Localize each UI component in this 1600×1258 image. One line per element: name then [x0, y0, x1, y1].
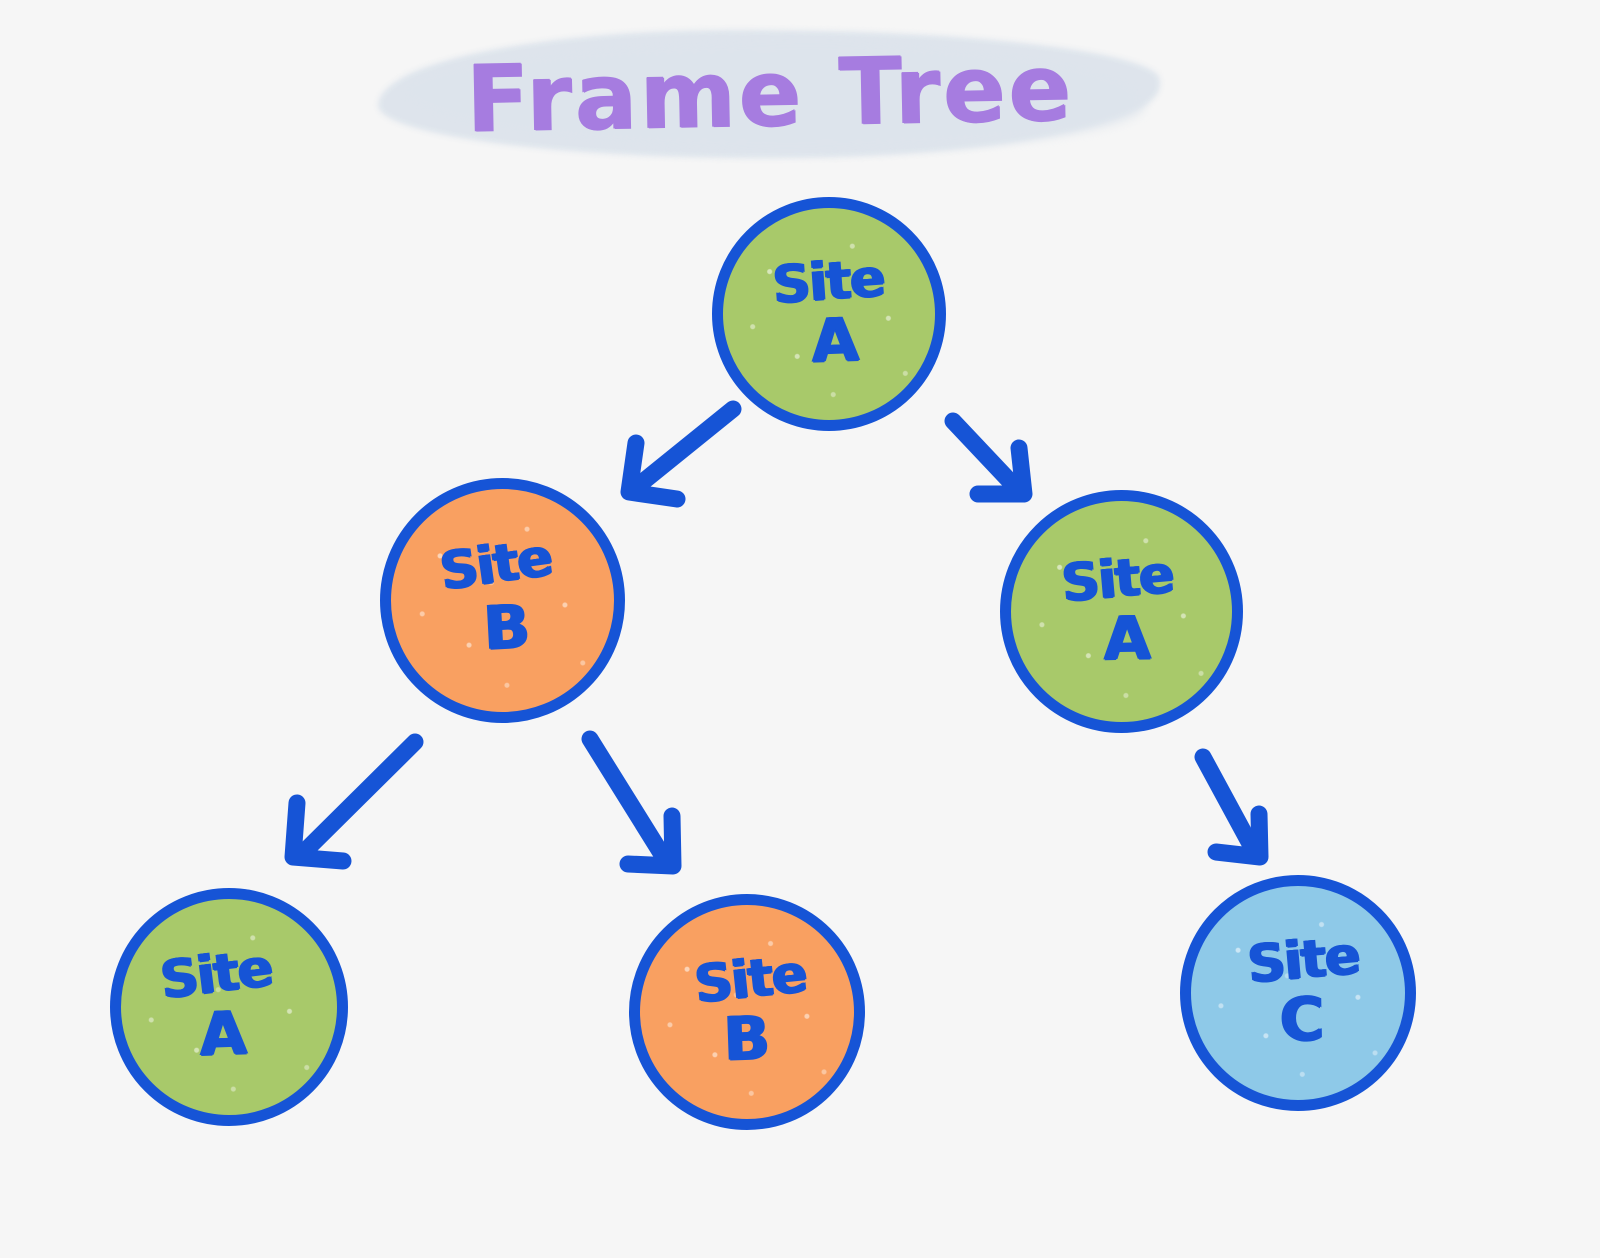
node-label-site: Site — [159, 944, 276, 1007]
arrow-site-a-right-to-site-c — [1203, 757, 1260, 857]
node-label-letter: C — [1279, 992, 1324, 1050]
node-label-letter: A — [199, 1006, 247, 1065]
node-label-site: Site — [437, 534, 554, 598]
node-root-site-a[interactable]: Site A — [712, 197, 946, 431]
node-label-site: Site — [1246, 932, 1361, 991]
title-banner: Frame Tree — [370, 18, 1170, 168]
page-title: Frame Tree — [369, 10, 1172, 175]
node-site-a-bottom-left[interactable]: Site A — [110, 888, 348, 1126]
arrow-site-b-to-site-b-bottom — [590, 739, 673, 866]
arrow-site-b-to-site-a-bottom-left — [293, 742, 415, 861]
node-site-b-middle[interactable]: Site B — [380, 478, 625, 723]
node-label-letter: A — [1104, 610, 1151, 668]
node-label-letter: B — [723, 1010, 771, 1069]
node-site-a-middle-right[interactable]: Site A — [1000, 490, 1243, 733]
node-label-site: Site — [772, 254, 887, 311]
node-label-site: Site — [1060, 551, 1175, 610]
node-label-letter: A — [811, 312, 859, 371]
arrow-root-to-site-a-right — [953, 421, 1024, 494]
node-label-site: Site — [693, 950, 809, 1011]
node-site-b-bottom[interactable]: Site B — [629, 894, 865, 1130]
node-site-c-bottom-right[interactable]: Site C — [1180, 875, 1416, 1111]
node-label-letter: B — [482, 598, 531, 657]
frame-tree-diagram: Frame Tree — [0, 0, 1600, 1258]
arrow-root-to-site-b — [629, 409, 733, 499]
